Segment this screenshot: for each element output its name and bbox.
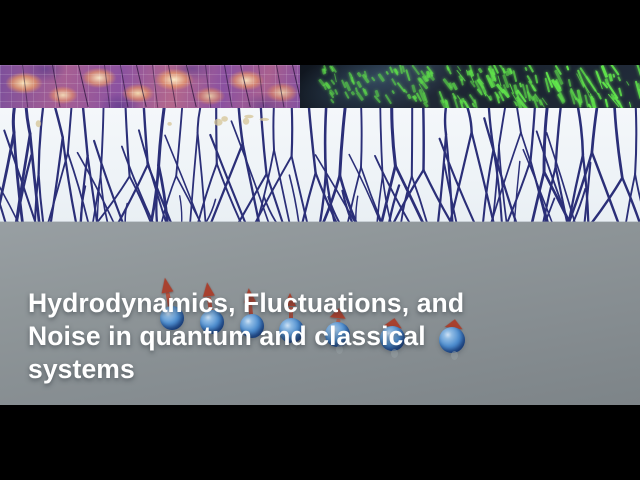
letterbox-bar-bottom	[0, 405, 640, 480]
worldline	[309, 108, 316, 173]
green-streak	[565, 66, 569, 72]
worldline	[626, 174, 635, 222]
worldline	[499, 108, 505, 146]
worldline	[592, 152, 618, 222]
worldline-speck	[36, 120, 41, 127]
worldline	[517, 108, 521, 133]
worldline-panel	[0, 108, 640, 222]
worldline	[273, 108, 274, 150]
green-streak	[478, 68, 483, 73]
worldline	[615, 108, 623, 178]
worldline	[491, 133, 521, 223]
worldline	[592, 178, 622, 222]
title-line-3: systems	[28, 353, 588, 386]
green-streak	[535, 74, 539, 83]
worldline	[239, 174, 267, 222]
green-streak	[619, 87, 623, 96]
worldline	[340, 108, 345, 175]
worldline	[55, 108, 62, 137]
worldline	[39, 108, 43, 174]
worldline	[445, 108, 446, 134]
worldline-plot	[0, 108, 640, 222]
worldline	[531, 108, 535, 161]
green-streak	[625, 81, 629, 86]
worldline	[292, 108, 293, 156]
worldline	[523, 150, 552, 222]
worldline	[156, 189, 157, 222]
heatmap-grid	[0, 65, 300, 108]
worldline	[377, 176, 382, 222]
worldline	[180, 196, 182, 222]
worldline	[635, 108, 636, 174]
worldline	[468, 108, 472, 132]
worldline	[361, 108, 362, 167]
worldline	[68, 108, 72, 153]
worldline-speck	[221, 116, 228, 122]
page-title: Hydrodynamics, Fluctuations, and Noise i…	[28, 287, 588, 386]
green-streak	[524, 67, 527, 71]
title-line-1: Hydrodynamics, Fluctuations, and	[28, 287, 588, 320]
worldline	[256, 156, 292, 222]
worldline	[325, 108, 326, 173]
green-streak	[613, 73, 616, 77]
worldline	[578, 108, 583, 155]
worldline	[216, 108, 217, 164]
worldline	[48, 153, 67, 222]
worldline	[592, 108, 597, 152]
worldline	[63, 137, 76, 222]
worldline	[264, 196, 276, 222]
video-frame: Hydrodynamics, Fluctuations, and Noise i…	[0, 0, 640, 480]
worldline-speck	[167, 122, 171, 126]
worldline	[349, 155, 380, 222]
worldline	[83, 108, 88, 156]
worldline	[26, 108, 30, 134]
green-streak-panel	[300, 65, 640, 108]
worldline-speck	[260, 118, 270, 121]
green-streak	[629, 102, 632, 108]
worldline	[472, 132, 494, 222]
video-stage: Hydrodynamics, Fluctuations, and Noise i…	[0, 65, 640, 405]
heatmap-panel	[0, 65, 300, 108]
worldline	[88, 156, 97, 222]
worldline-speck	[214, 119, 223, 126]
title-line-2: Noise in quantum and classical	[28, 320, 588, 353]
green-streak	[528, 65, 534, 73]
worldline-speck	[243, 118, 249, 125]
worldline	[165, 135, 200, 222]
green-streak	[513, 70, 518, 82]
worldline	[274, 150, 289, 222]
worldline	[261, 108, 267, 174]
green-streak	[596, 93, 601, 100]
worldline	[392, 108, 396, 166]
worldline	[159, 108, 165, 165]
letterbox-bar-top	[0, 0, 640, 65]
green-streak	[568, 79, 571, 87]
worldline-speck	[244, 115, 253, 118]
worldline	[198, 108, 201, 133]
green-streak	[601, 65, 608, 78]
green-streak	[595, 70, 602, 83]
worldline	[239, 108, 243, 144]
worldline	[356, 196, 358, 222]
worldline	[119, 165, 148, 222]
green-streak	[605, 99, 609, 108]
worldline	[206, 199, 215, 222]
worldline	[13, 108, 14, 133]
worldline	[303, 173, 316, 222]
green-streak	[592, 98, 597, 108]
worldline	[380, 108, 382, 176]
worldline	[217, 164, 241, 222]
worldline	[556, 167, 567, 222]
worldline	[556, 108, 561, 167]
green-streak	[618, 77, 622, 82]
